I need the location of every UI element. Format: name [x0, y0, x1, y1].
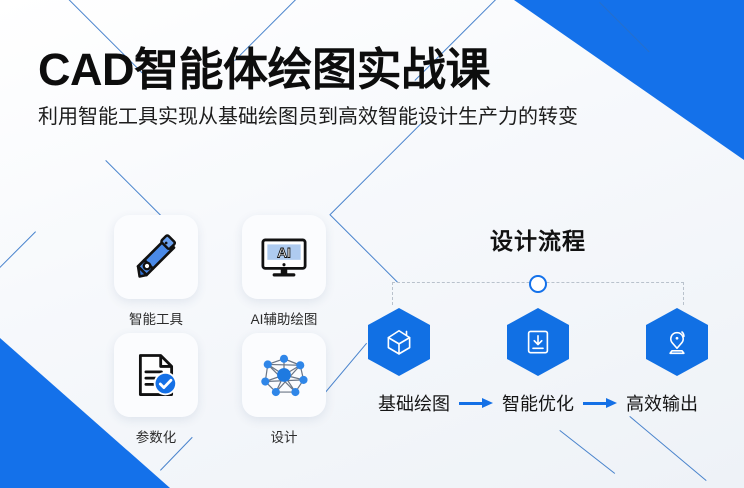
flow-arrow-icon-2 [583, 398, 617, 408]
pen-nib-icon [131, 232, 181, 282]
feature-label: AI辅助绘图 [251, 308, 318, 328]
design-flow-section: 设计流程 [352, 222, 724, 416]
header-block: CAD智能体绘图实战课 利用智能工具实现从基础绘图员到高效智能设计生产力的转变 [38, 46, 698, 129]
feature-item-ai-drawing[interactable]: AI AI辅助绘图 [220, 215, 348, 333]
feature-label: 智能工具 [129, 308, 183, 328]
flow-hex-efficient-output[interactable] [646, 308, 708, 376]
page-title: CAD智能体绘图实战课 [38, 46, 698, 94]
flow-step-labels: 基础绘图 智能优化 高效输出 [352, 390, 724, 416]
poster-canvas: CAD智能体绘图实战课 利用智能工具实现从基础绘图员到高效智能设计生产力的转变 [0, 0, 744, 488]
flow-connector-bracket [352, 270, 724, 306]
ai-screen-text: AI [277, 244, 291, 260]
flow-step-label-1: 基础绘图 [378, 390, 450, 416]
ai-monitor-icon: AI [258, 231, 310, 283]
feature-card[interactable] [114, 333, 198, 417]
cube-house-icon [384, 327, 414, 357]
diagonal-line-5 [0, 231, 36, 309]
diagonal-line-7 [330, 123, 421, 214]
flow-heading: 设计流程 [352, 222, 724, 256]
feature-item-design[interactable]: 设计 [220, 333, 348, 451]
feature-card[interactable] [242, 333, 326, 417]
feature-label: 参数化 [136, 426, 177, 446]
feature-card[interactable] [114, 215, 198, 299]
location-signal-icon [662, 327, 692, 357]
flow-hex-basic-drawing[interactable] [368, 308, 430, 376]
feature-item-smart-tools[interactable]: 智能工具 [92, 215, 220, 333]
diagonal-line-6 [105, 160, 167, 222]
feature-card[interactable]: AI [242, 215, 326, 299]
feature-item-parametric[interactable]: 参数化 [92, 333, 220, 451]
flow-step-label-3: 高效输出 [626, 390, 698, 416]
diagonal-line-10 [559, 430, 615, 474]
diagonal-line-4 [599, 2, 649, 52]
feature-grid: 智能工具 AI AI辅助绘图 [92, 215, 348, 451]
feature-label: 设计 [271, 426, 298, 446]
document-download-icon [523, 327, 553, 357]
flow-hex-row [352, 308, 724, 376]
network-graph-icon [258, 349, 310, 401]
flow-step-label-2: 智能优化 [502, 390, 574, 416]
flow-arrow-icon-1 [459, 398, 493, 408]
flow-hex-smart-optimize[interactable] [507, 308, 569, 376]
page-subtitle: 利用智能工具实现从基础绘图员到高效智能设计生产力的转变 [38, 105, 698, 129]
bracket-center-knob [529, 275, 547, 293]
document-check-icon [131, 350, 181, 400]
diagonal-line-11 [629, 416, 706, 481]
